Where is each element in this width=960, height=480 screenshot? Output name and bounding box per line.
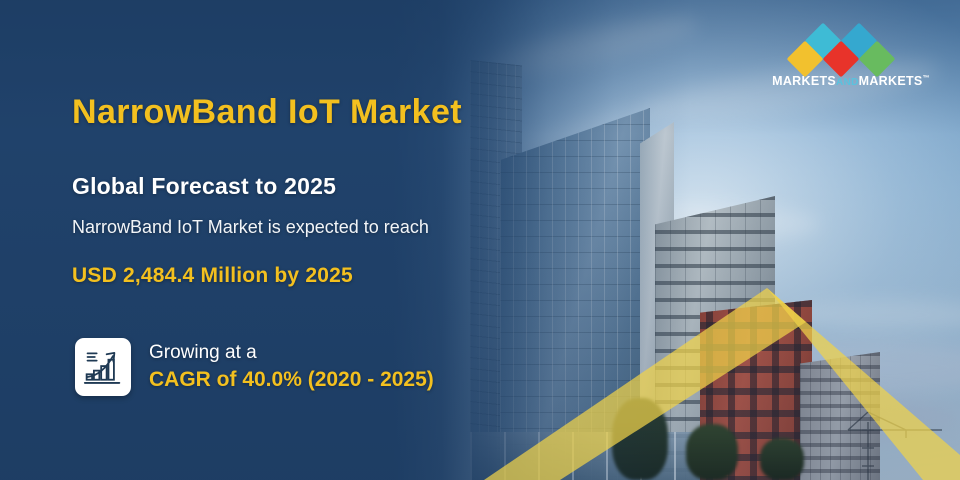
cagr-value-label: CAGR of 40.0% (2020 - 2025): [149, 366, 434, 394]
trademark-symbol: ™: [923, 75, 930, 82]
logo-diamond-marks: [766, 26, 936, 66]
marketsandmarkets-report-banner: MARKETSANDMARKETS™ NarrowBand IoT Market…: [0, 0, 960, 480]
market-value-statement: USD 2,484.4 Million by 2025: [72, 264, 353, 288]
page-title: NarrowBand IoT Market: [72, 93, 462, 132]
logo-word-and: AND: [836, 77, 859, 88]
cagr-text-block: Growing at a CAGR of 40.0% (2020 - 2025): [149, 340, 434, 394]
marketsandmarkets-logo[interactable]: MARKETSANDMARKETS™: [766, 26, 936, 88]
logo-wordmark: MARKETSANDMARKETS™: [766, 74, 936, 88]
cagr-callout: Growing at a CAGR of 40.0% (2020 - 2025): [75, 338, 434, 396]
logo-word-markets-2: MARKETS: [859, 74, 923, 88]
growth-chart-icon-card: [75, 338, 131, 396]
growth-chart-icon: [83, 347, 123, 387]
lead-description: NarrowBand IoT Market is expected to rea…: [72, 215, 432, 240]
subtitle-forecast: Global Forecast to 2025: [72, 173, 336, 200]
cagr-growing-label: Growing at a: [149, 340, 434, 366]
